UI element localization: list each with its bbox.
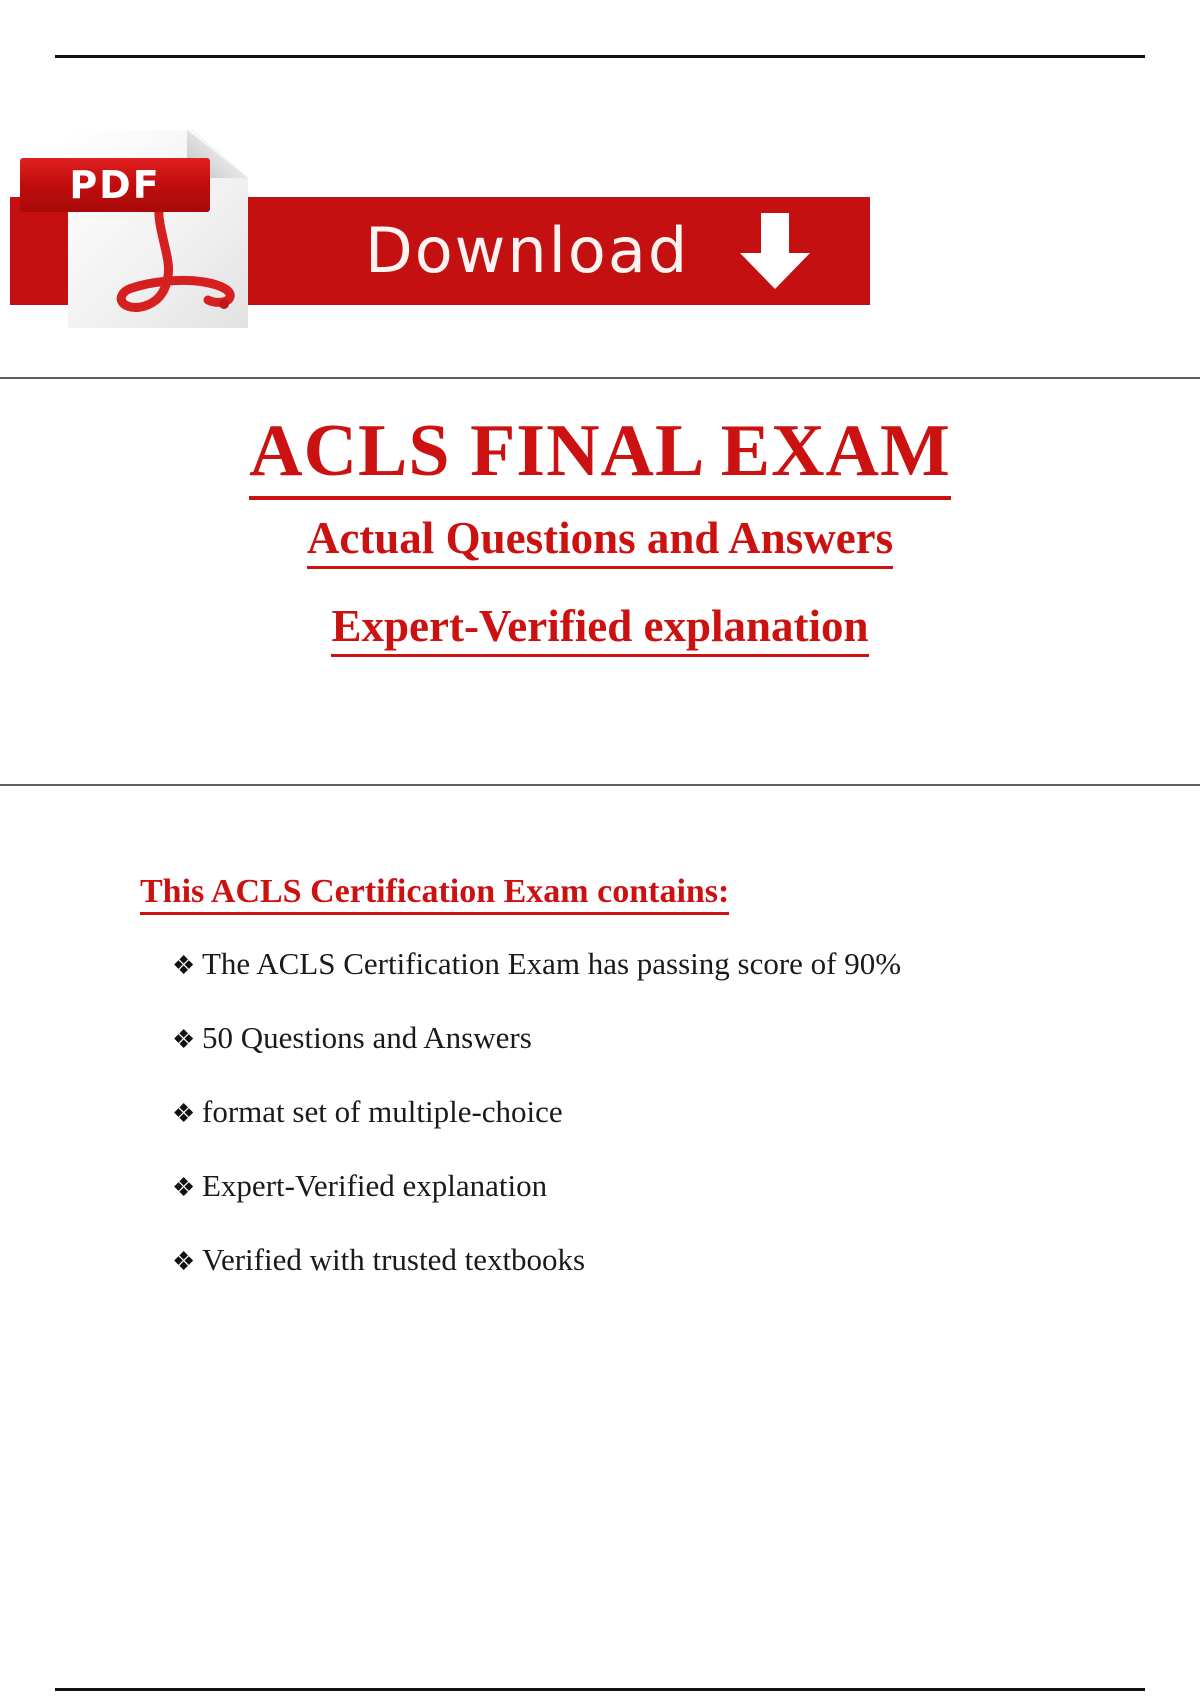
diamond-bullet-icon: ❖: [172, 1242, 202, 1282]
divider-after-title: [0, 784, 1200, 786]
list-item-label: Verified with trusted textbooks: [202, 1240, 1120, 1280]
list-item: ❖ The ACLS Certification Exam has passin…: [140, 944, 1120, 986]
pdf-file-icon: PDF: [68, 130, 248, 328]
title-block: ACLS FINAL EXAM Actual Questions and Ans…: [0, 390, 1200, 670]
list-item-label: 50 Questions and Answers: [202, 1018, 1120, 1058]
list-item: ❖ Verified with trusted textbooks: [140, 1240, 1120, 1282]
list-item: ❖ 50 Questions and Answers: [140, 1018, 1120, 1060]
list-item-label: Expert-Verified explanation: [202, 1166, 1120, 1206]
divider-after-banner: [0, 377, 1200, 379]
page-subtitle-2-text: Expert-Verified explanation: [331, 601, 868, 657]
page-title-text: ACLS FINAL EXAM: [249, 410, 951, 500]
download-banner[interactable]: Download PDF: [10, 120, 890, 330]
list-item-label: format set of multiple-choice: [202, 1092, 1120, 1132]
download-button-label: Download: [365, 212, 705, 290]
list-item-label: The ACLS Certification Exam has passing …: [202, 944, 1120, 984]
exam-contents-section: This ACLS Certification Exam contains: ❖…: [140, 870, 1120, 1314]
exam-contents-heading-text: This ACLS Certification Exam contains:: [140, 873, 729, 915]
page-subtitle-2: Expert-Verified explanation: [0, 582, 1200, 670]
top-horizontal-rule: [55, 55, 1145, 58]
download-arrow-icon: [736, 213, 814, 289]
page-subtitle-1-text: Actual Questions and Answers: [307, 513, 893, 569]
bottom-horizontal-rule: [55, 1688, 1145, 1691]
list-item: ❖ format set of multiple-choice: [140, 1092, 1120, 1134]
exam-contents-list: ❖ The ACLS Certification Exam has passin…: [140, 944, 1120, 1282]
list-item: ❖ Expert-Verified explanation: [140, 1166, 1120, 1208]
diamond-bullet-icon: ❖: [172, 1020, 202, 1060]
diamond-bullet-icon: ❖: [172, 1168, 202, 1208]
pdf-badge-label: PDF: [20, 158, 210, 212]
diamond-bullet-icon: ❖: [172, 1094, 202, 1134]
document-page: Download PDF ACLS FINAL EXAM Actual Ques…: [0, 0, 1200, 1700]
diamond-bullet-icon: ❖: [172, 946, 202, 986]
page-subtitle-1: Actual Questions and Answers: [0, 494, 1200, 582]
page-title: ACLS FINAL EXAM: [0, 408, 1200, 494]
exam-contents-heading: This ACLS Certification Exam contains:: [140, 870, 1120, 914]
